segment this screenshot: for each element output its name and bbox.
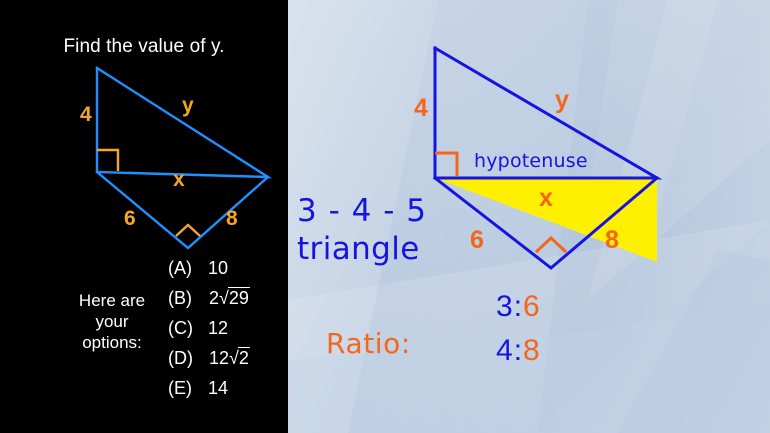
options-intro-line-2: your: [58, 311, 166, 332]
hypotenuse-annotation: hypotenuse: [474, 152, 588, 171]
right-slide-panel: 4 y x 6 8 hypotenuse 3 - 4 - 5 triangle …: [288, 0, 770, 433]
answer-option-e-value: 14: [208, 378, 228, 399]
right-angle-marker-lower-icon: [536, 238, 566, 252]
right-figure-label-8: 8: [605, 228, 619, 253]
ratio-bottom-separator: :: [514, 334, 523, 367]
answer-option-b[interactable]: (B) 2√29: [168, 288, 250, 318]
slide-comparison-screenshot: Find the value of y. 4 y x 6 8 Here are …: [0, 0, 770, 433]
answer-option-b-value: 2√29: [208, 288, 250, 309]
ratio-bottom-right: 8: [523, 334, 541, 367]
answer-option-d-radicand: 2: [238, 347, 250, 368]
options-intro-label: Here are your options:: [58, 290, 166, 353]
right-figure-label-y: y: [555, 88, 569, 113]
left-figure-label-8: 8: [226, 208, 238, 229]
note-triangle-line: triangle: [297, 234, 420, 265]
answer-option-d-value: 12√2: [208, 348, 250, 369]
answer-option-e[interactable]: (E) 14: [168, 378, 250, 408]
ratio-top-left: 3: [496, 290, 514, 323]
right-figure-label-x: x: [539, 186, 553, 211]
ratio-label: Ratio:: [326, 330, 411, 358]
answer-option-a[interactable]: (A) 10: [168, 258, 250, 288]
left-figure-label-6: 6: [124, 208, 136, 229]
left-slide-panel: Find the value of y. 4 y x 6 8 Here are …: [0, 0, 288, 433]
answer-option-a-value: 10: [208, 258, 228, 279]
answer-option-d-coefficient: 12: [209, 348, 229, 368]
answer-option-e-key: (E): [168, 378, 208, 399]
upper-triangle-path: [97, 68, 268, 177]
options-intro-line-3: options:: [58, 332, 166, 353]
right-angle-marker-lower-icon: [176, 225, 200, 236]
ratio-row-top: 3:6: [496, 290, 541, 324]
ratio-bottom-left: 4: [496, 334, 514, 367]
ratio-row-bottom: 4:8: [496, 334, 541, 368]
left-figure-label-y: y: [182, 95, 194, 116]
options-intro-line-1: Here are: [58, 290, 166, 311]
answer-option-b-radicand: 29: [228, 287, 250, 308]
answer-option-b-coefficient: 2: [209, 288, 219, 308]
ratio-top-right: 6: [523, 290, 541, 323]
left-figure-label-x: x: [173, 169, 185, 190]
answer-option-a-key: (A): [168, 258, 208, 279]
answer-option-b-key: (B): [168, 288, 208, 309]
right-angle-marker-upper-icon: [97, 150, 118, 171]
answer-option-c-value: 12: [208, 318, 228, 339]
left-figure-label-4: 4: [80, 104, 92, 125]
answer-option-d[interactable]: (D) 12√2: [168, 348, 250, 378]
ratio-top-separator: :: [514, 290, 523, 323]
right-figure-label-4: 4: [414, 96, 428, 121]
answer-option-c[interactable]: (C) 12: [168, 318, 250, 348]
answer-options-list: (A) 10 (B) 2√29 (C) 12 (D) 12√2 (E) 14: [168, 258, 250, 408]
note-345-line: 3 - 4 - 5: [297, 196, 427, 227]
right-figure-label-6: 6: [470, 228, 484, 253]
answer-option-c-key: (C): [168, 318, 208, 339]
answer-option-d-key: (D): [168, 348, 208, 369]
right-angle-marker-upper-icon: [435, 153, 457, 176]
